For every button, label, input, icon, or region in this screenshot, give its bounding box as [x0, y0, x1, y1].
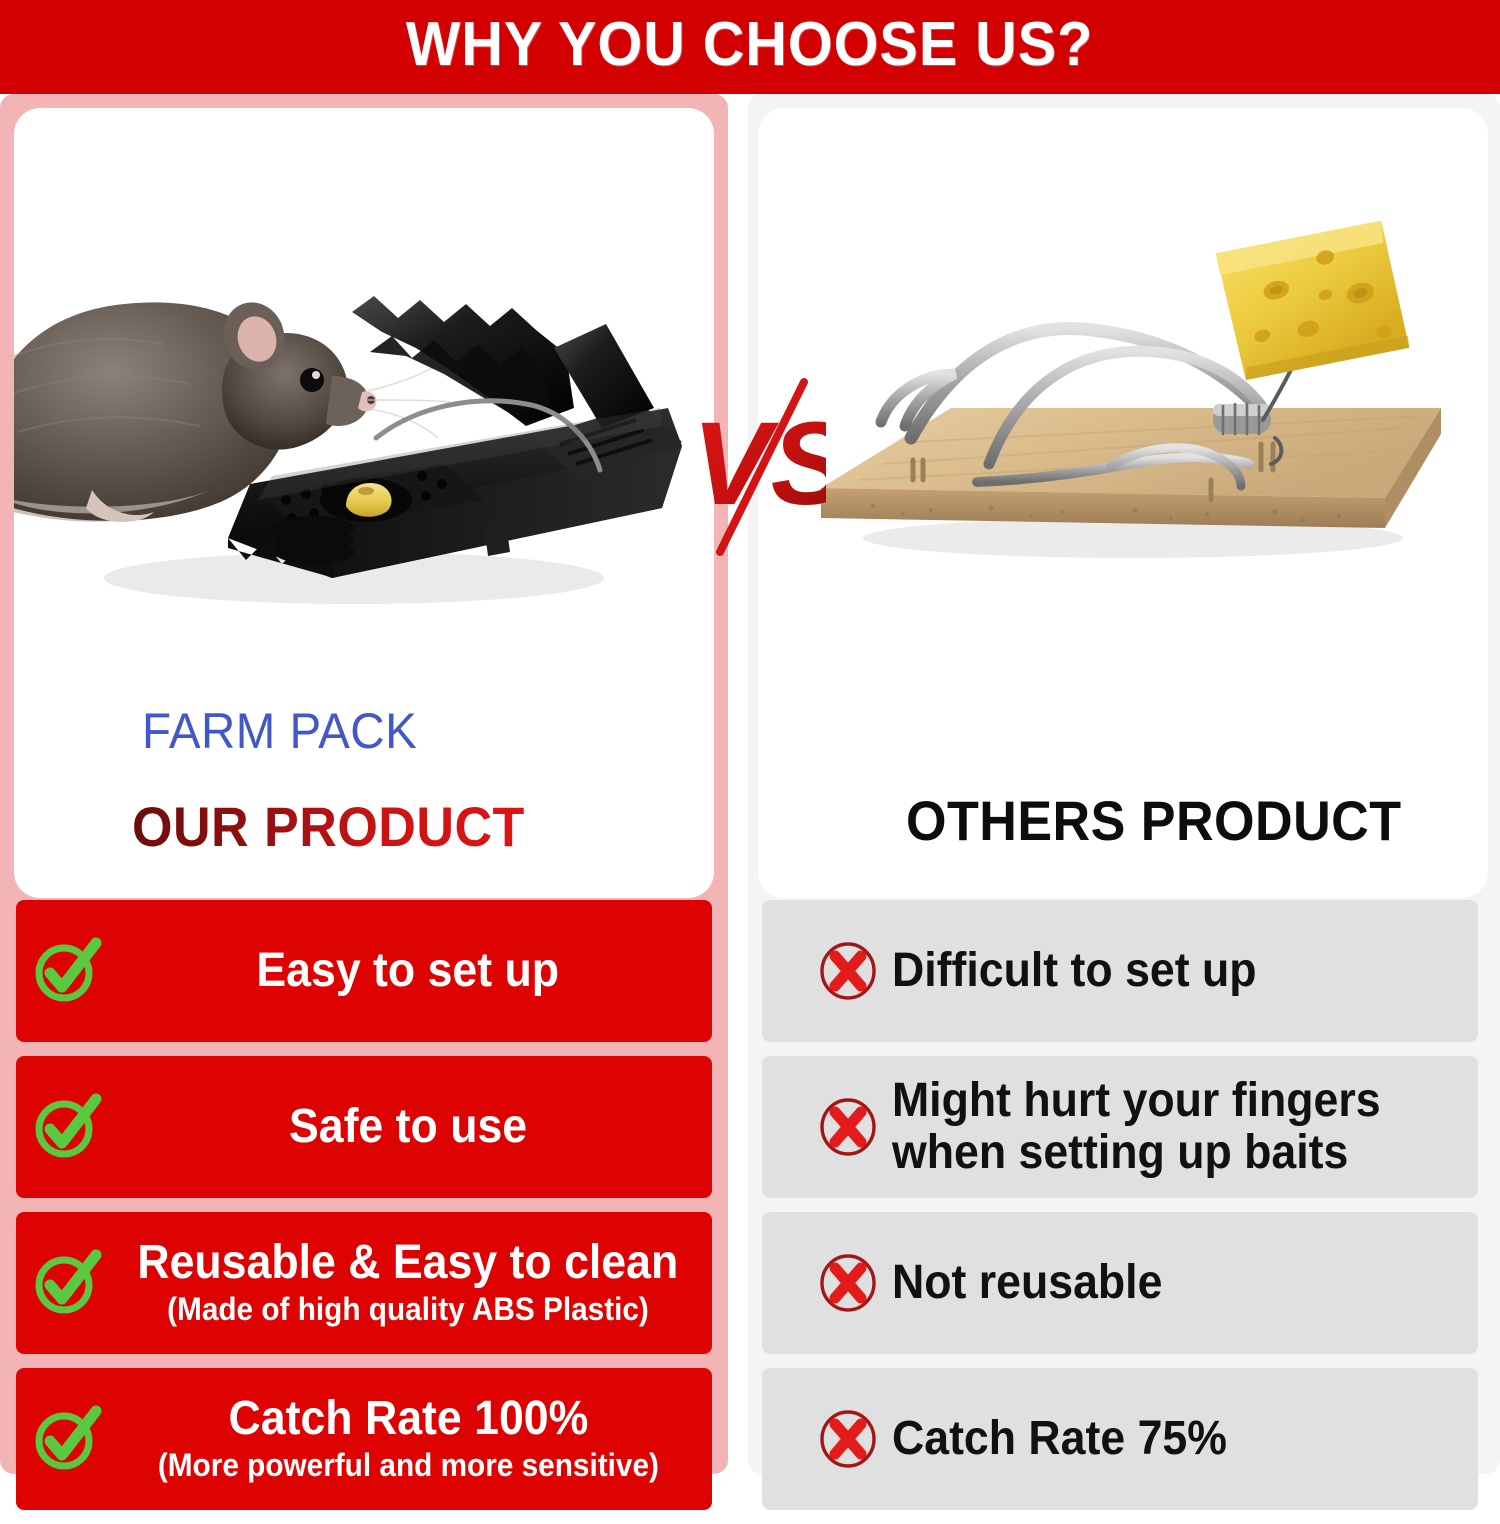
feature-title: Catch Rate 100%	[228, 1394, 588, 1444]
drawback-row-difficult-setup: Difficult to set up	[762, 900, 1478, 1042]
others-product-label: OTHERS PRODUCT	[906, 788, 1402, 853]
cross-circle-icon	[818, 1097, 878, 1157]
others-feature-list: Difficult to set up Might hurt your fing…	[748, 900, 1500, 1524]
cheese-bait	[1210, 207, 1417, 393]
drawback-title: Might hurt your fingers when setting up …	[892, 1075, 1437, 1179]
brand-label: FARM PACK	[142, 702, 417, 760]
drawback-title: Difficult to set up	[892, 946, 1257, 996]
check-circle-icon	[30, 1091, 102, 1163]
drawback-row-hurt-fingers: Might hurt your fingers when setting up …	[762, 1056, 1478, 1198]
others-product-image	[758, 108, 1488, 668]
feature-row-reusable: Reusable & Easy to clean (Made of high q…	[16, 1212, 712, 1354]
page-header: WHY YOU CHOOSE US?	[0, 0, 1500, 88]
drawback-row-catch-rate: Catch Rate 75%	[762, 1368, 1478, 1510]
drawback-title: Not reusable	[892, 1258, 1162, 1308]
our-product-image	[14, 108, 714, 668]
drawback-text-group: Might hurt your fingers when setting up …	[892, 1075, 1478, 1179]
feature-subtitle: (Made of high quality ABS Plastic)	[167, 1291, 649, 1328]
comparison-board: FARM PACK OUR PRODUCT Easy to set up	[0, 94, 1500, 1500]
cross-circle-icon	[818, 1253, 878, 1313]
cross-circle-icon	[818, 941, 878, 1001]
feature-title: Reusable & Easy to clean	[138, 1238, 679, 1288]
feature-text-group: Catch Rate 100% (More powerful and more …	[110, 1394, 706, 1485]
feature-title: Safe to use	[289, 1102, 527, 1152]
check-circle-icon	[30, 1403, 102, 1475]
drawback-text-group: Difficult to set up	[892, 946, 1284, 996]
our-product-label: OUR PRODUCT	[132, 794, 525, 859]
our-product-card: FARM PACK OUR PRODUCT	[14, 108, 714, 898]
drawback-text-group: Catch Rate 75%	[892, 1414, 1252, 1464]
others-product-card: OTHERS PRODUCT	[758, 108, 1488, 898]
check-circle-icon	[30, 935, 102, 1007]
feature-text-group: Reusable & Easy to clean (Made of high q…	[110, 1238, 706, 1329]
drawback-row-not-reusable: Not reusable	[762, 1212, 1478, 1354]
feature-title: Easy to set up	[257, 946, 560, 996]
feature-text-group: Safe to use	[110, 1102, 706, 1152]
feature-row-safe-to-use: Safe to use	[16, 1056, 712, 1198]
drawback-text-group: Not reusable	[892, 1258, 1183, 1308]
page-title: WHY YOU CHOOSE US?	[406, 9, 1093, 80]
feature-subtitle: (More powerful and more sensitive)	[157, 1447, 658, 1484]
feature-row-easy-setup: Easy to set up	[16, 900, 712, 1042]
cross-circle-icon	[818, 1409, 878, 1469]
drawback-title: Catch Rate 75%	[892, 1414, 1227, 1464]
vs-divider-icon: VS	[686, 376, 826, 556]
svg-text:VS: VS	[692, 398, 826, 530]
feature-text-group: Easy to set up	[110, 946, 706, 996]
our-feature-list: Easy to set up Safe to use	[0, 900, 728, 1524]
feature-row-catch-rate: Catch Rate 100% (More powerful and more …	[16, 1368, 712, 1510]
check-circle-icon	[30, 1247, 102, 1319]
